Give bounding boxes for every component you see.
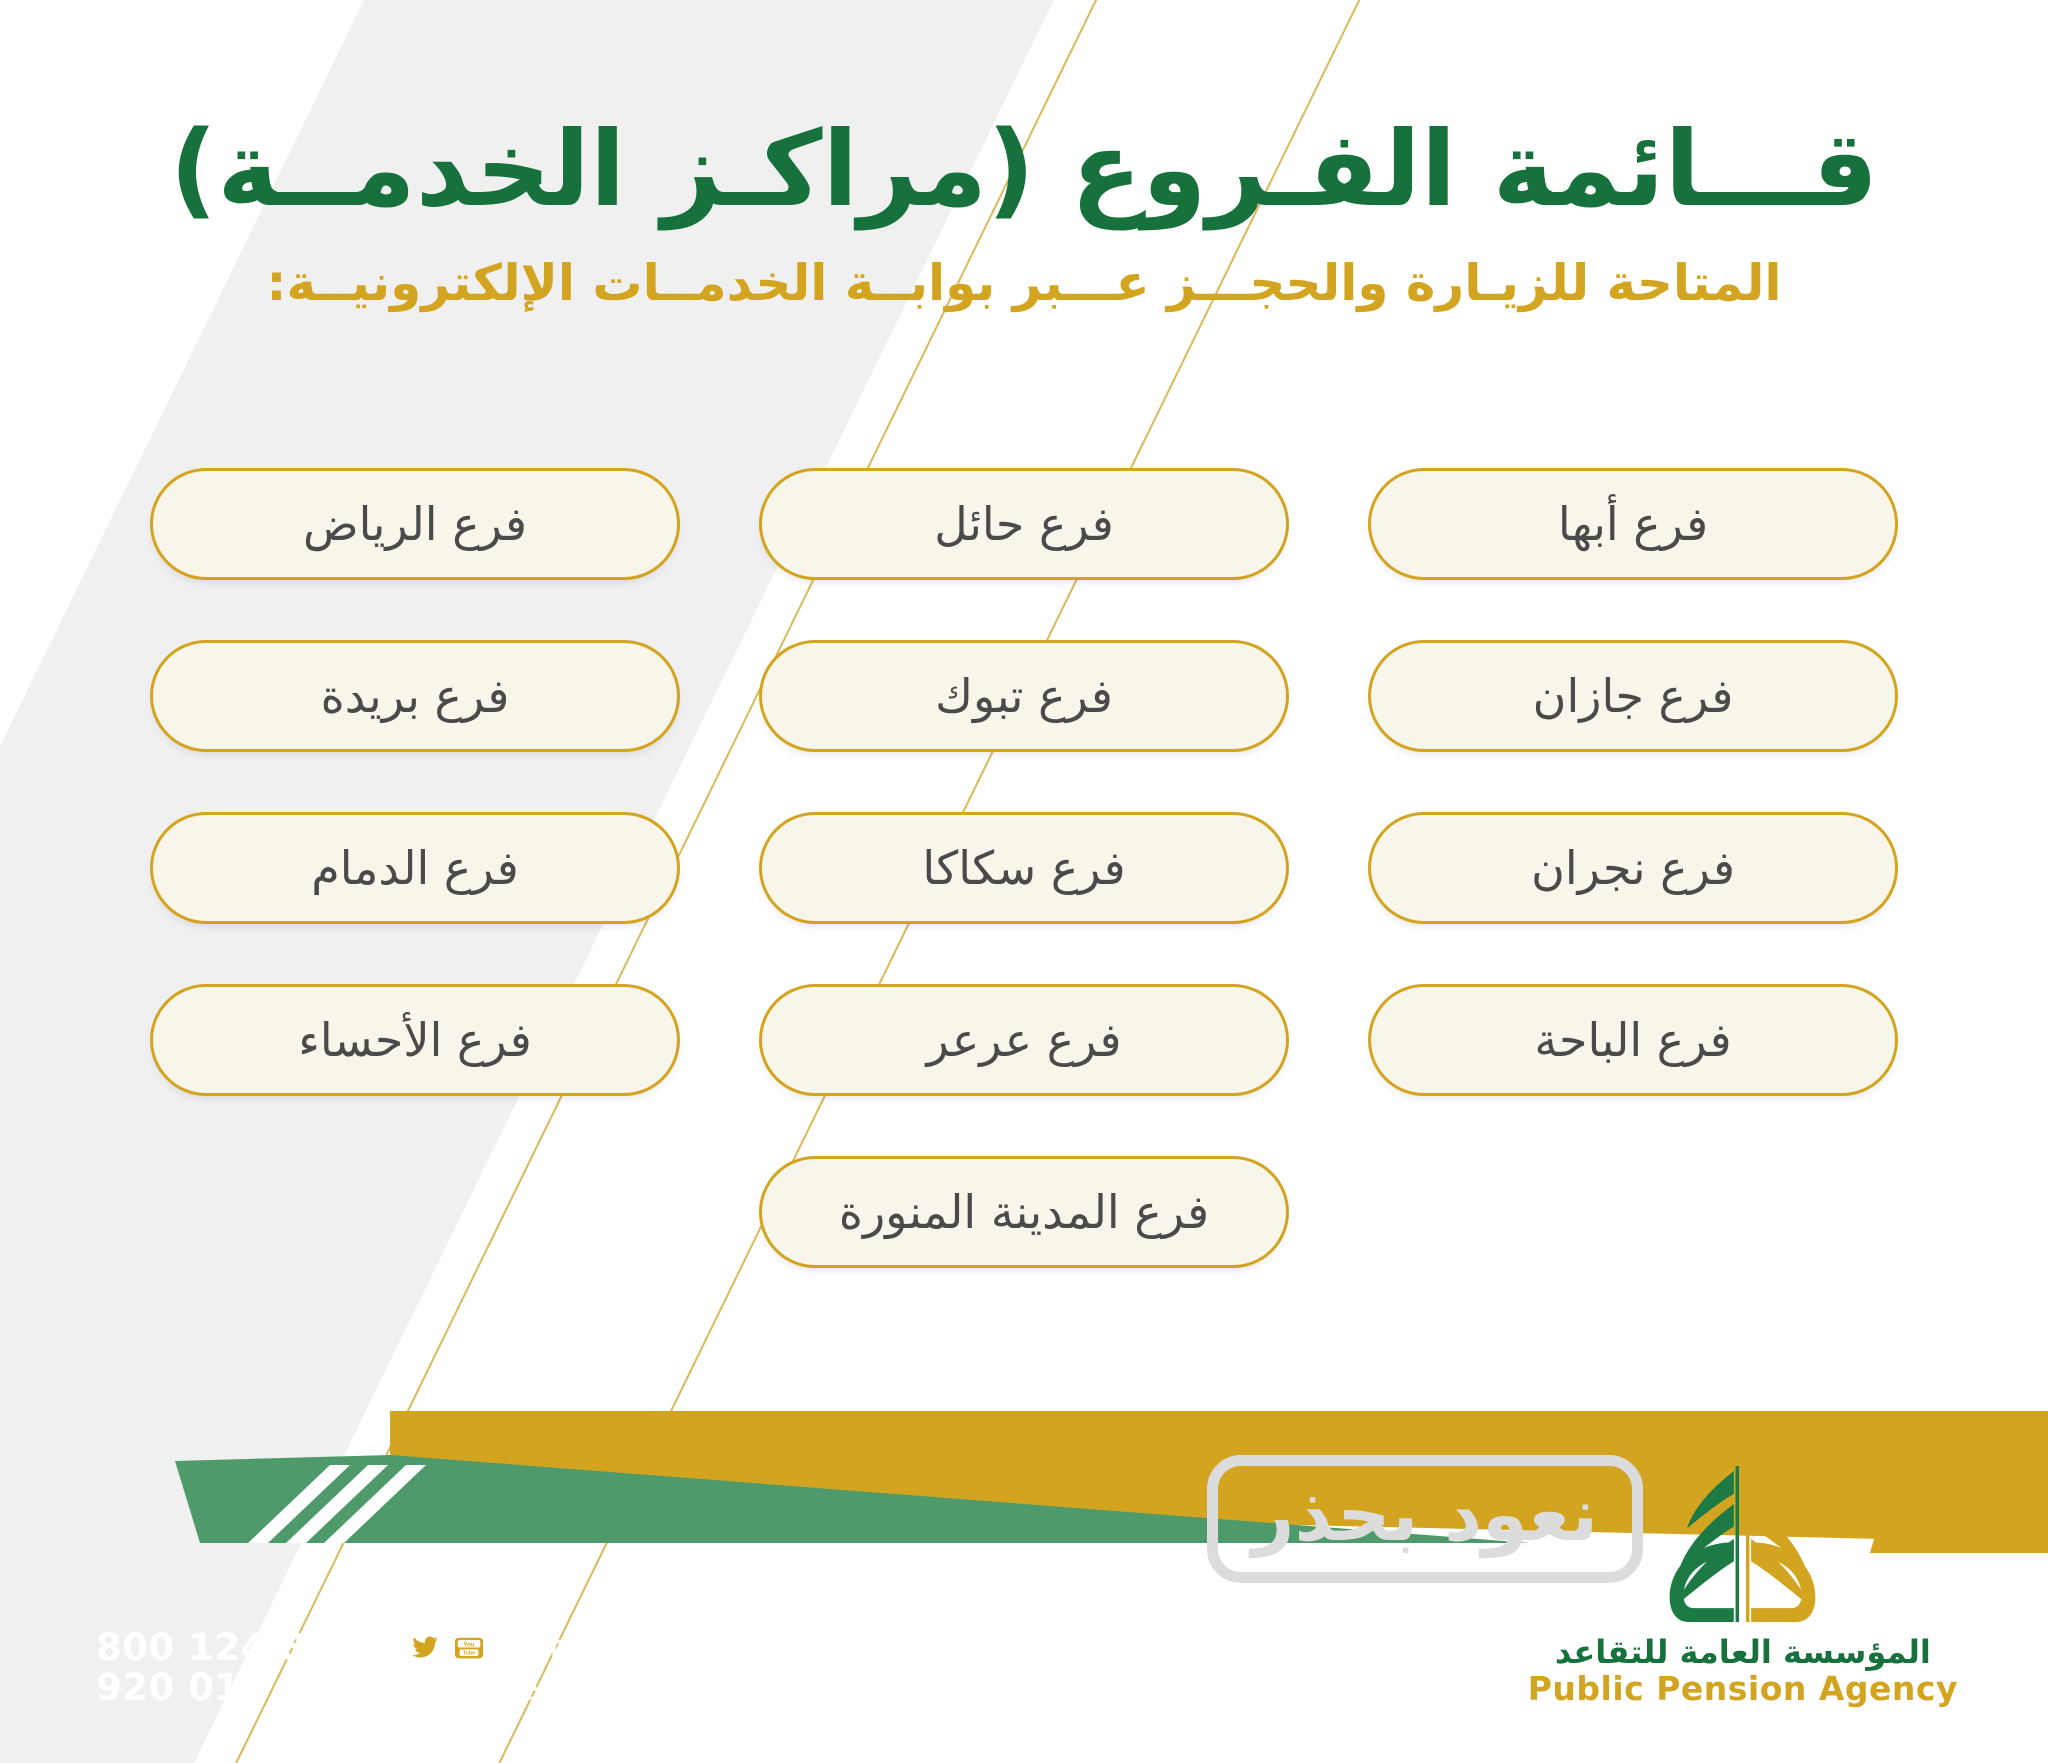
poster-canvas: قـــائمة الفـروع (مراكـز الخدمــة) المتا… [0,0,2048,1763]
youtube-icon[interactable]: You Tube [451,1630,487,1666]
svg-text:Tube: Tube [463,1651,475,1657]
agency-name-en: Public Pension Agency [1528,1670,1958,1708]
branch-label: فرع الأحساء [298,1013,532,1067]
twitter-icon[interactable] [407,1630,443,1666]
branch-label: فرع أبها [1558,497,1708,551]
branch-label: فرع جازان [1533,669,1734,723]
branch-label: فرع تبوك [935,669,1113,723]
branch-pill-tabuk[interactable]: فرع تبوك [759,640,1289,752]
social-handle-row: You Tube /PensionSA [407,1629,747,1668]
branch-pill-riyadh[interactable]: فرع الرياض [150,468,680,580]
phone-number-secondary[interactable]: 920 014 000 [96,1668,385,1708]
branch-pill-albaha[interactable]: فرع الباحة [1368,984,1898,1096]
phone-numbers: 800 124 8889 920 014 000 [96,1628,385,1708]
agency-name-ar: المؤسسة العامة للتقاعد [1528,1635,1958,1670]
branch-pill-najran[interactable]: فرع نجران [1368,812,1898,924]
svg-text:You: You [464,1642,475,1648]
website-url[interactable]: www.pension.gov.sa [407,1669,747,1707]
page-subtitle: المتاحة للزيـارة والحجـــز عـــبر بوابــ… [0,252,2048,315]
branch-pill-buraydah[interactable]: فرع بريدة [150,640,680,752]
branch-label: فرع المدينة المنورة [839,1185,1209,1239]
branch-pill-sakaka[interactable]: فرع سكاكا [759,812,1289,924]
social-links: You Tube /PensionSA www.pension.gov.sa [407,1629,747,1707]
branch-label: فرع بريدة [321,669,510,723]
contact-bar: 800 124 8889 920 014 000 You [96,1628,747,1708]
branch-column-left: فرع أبها فرع جازان فرع نجران فرع الباحة [1368,468,1898,1268]
header: قـــائمة الفـروع (مراكـز الخدمــة) المتا… [0,110,2048,314]
branch-label: فرع سكاكا [922,841,1125,895]
branch-column-center: فرع حائل فرع تبوك فرع سكاكا فرع عرعر فرع… [759,468,1289,1268]
phone-number-primary[interactable]: 800 124 8889 [96,1628,385,1668]
agency-logo: المؤسسة العامة للتقاعد Public Pension Ag… [1528,1459,1958,1708]
branch-column-right: فرع الرياض فرع بريدة فرع الدمام فرع الأح… [150,468,680,1268]
branch-pill-madinah[interactable]: فرع المدينة المنورة [759,1156,1289,1268]
branch-label: فرع الرياض [303,497,527,551]
footer: نعود بحذر المؤسسة العامة للتقاعد Public … [0,1403,2048,1763]
wheat-leaf-icon [1655,1459,1830,1629]
branch-list: فرع الرياض فرع بريدة فرع الدمام فرع الأح… [150,468,1898,1268]
branch-label: فرع الباحة [1534,1013,1731,1067]
branch-pill-jazan[interactable]: فرع جازان [1368,640,1898,752]
branch-pill-arar[interactable]: فرع عرعر [759,984,1289,1096]
social-handle[interactable]: /PensionSA [495,1629,692,1668]
branch-pill-dammam[interactable]: فرع الدمام [150,812,680,924]
branch-pill-hail[interactable]: فرع حائل [759,468,1289,580]
branch-pill-abha[interactable]: فرع أبها [1368,468,1898,580]
branch-label: فرع الدمام [311,841,519,895]
branch-label: فرع نجران [1531,841,1735,895]
branch-label: فرع حائل [934,497,1114,551]
branch-label: فرع عرعر [926,1013,1121,1067]
branch-pill-alahsa[interactable]: فرع الأحساء [150,984,680,1096]
page-title: قـــائمة الفـروع (مراكـز الخدمــة) [0,110,2048,230]
